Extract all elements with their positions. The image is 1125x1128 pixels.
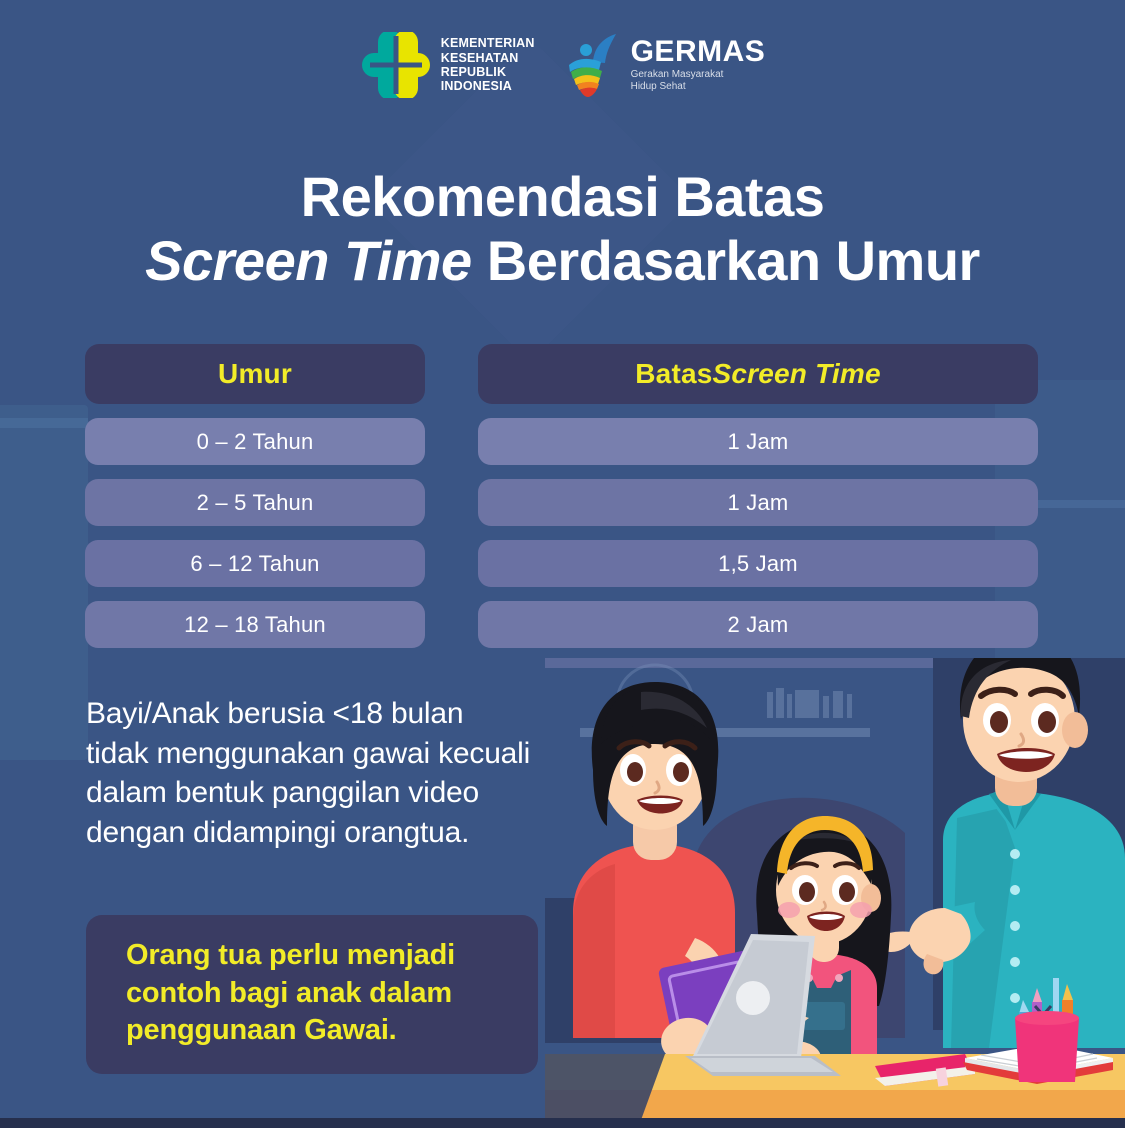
logo-bar: KEMENTERIAN KESEHATAN REPUBLIK INDONESIA — [0, 32, 1125, 98]
cell-limit-3: 2 Jam — [478, 601, 1038, 648]
table-row: 2 – 5 Tahun 1 Jam — [85, 479, 1043, 526]
cell-age-3: 12 – 18 Tahun — [85, 601, 425, 648]
infographic-poster: KEMENTERIAN KESEHATAN REPUBLIK INDONESIA — [0, 0, 1125, 1128]
column-header-limit-prefix: Batas — [635, 358, 712, 390]
kemenkes-line-2: KESEHATAN — [441, 51, 535, 65]
background-panel-left — [0, 405, 88, 760]
germas-tagline: Gerakan Masyarakat Hidup Sehat — [631, 69, 766, 94]
background-panel-left-line — [0, 418, 88, 428]
table-row: 12 – 18 Tahun 2 Jam — [85, 601, 1043, 648]
page-title: Rekomendasi Batas Screen Time Berdasarka… — [0, 165, 1125, 293]
germas-tagline-line-2: Hidup Sehat — [631, 81, 766, 94]
kemenkes-logo-text: KEMENTERIAN KESEHATAN REPUBLIK INDONESIA — [441, 36, 535, 94]
bottom-strip — [0, 1118, 1125, 1128]
column-header-limit: Batas Screen Time — [478, 344, 1038, 404]
cell-limit-1: 1 Jam — [478, 479, 1038, 526]
title-line-2: Screen Time Berdasarkan Umur — [0, 229, 1125, 293]
table-header-row: Umur Batas Screen Time — [85, 344, 1043, 404]
callout-box: Orang tua perlu menjadi contoh bagi anak… — [86, 915, 538, 1074]
table-row: 0 – 2 Tahun 1 Jam — [85, 418, 1043, 465]
title-line-1: Rekomendasi Batas — [0, 165, 1125, 229]
cell-age-2: 6 – 12 Tahun — [85, 540, 425, 587]
cell-limit-0: 1 Jam — [478, 418, 1038, 465]
column-header-limit-italic: Screen Time — [713, 358, 881, 390]
kemenkes-logo: KEMENTERIAN KESEHATAN REPUBLIK INDONESIA — [360, 32, 535, 98]
family-with-laptop-illustration — [545, 658, 1125, 1128]
germas-logo-text: GERMAS Gerakan Masyarakat Hidup Sehat — [631, 37, 766, 94]
column-header-age: Umur — [85, 344, 425, 404]
title-line-2-italic: Screen Time — [145, 229, 472, 292]
title-line-2-rest: Berdasarkan Umur — [472, 229, 980, 292]
table-row: 6 – 12 Tahun 1,5 Jam — [85, 540, 1043, 587]
germas-figure-icon — [561, 32, 623, 98]
cell-age-0: 0 – 2 Tahun — [85, 418, 425, 465]
germas-wordmark: GERMAS — [631, 37, 766, 67]
kemenkes-line-4: INDONESIA — [441, 79, 535, 93]
family-illustration-svg — [545, 658, 1125, 1128]
note-paragraph: Bayi/Anak berusia <18 bulan tidak menggu… — [86, 694, 531, 852]
germas-logo: GERMAS Gerakan Masyarakat Hidup Sehat — [561, 32, 766, 98]
cell-limit-2: 1,5 Jam — [478, 540, 1038, 587]
germas-tagline-line-1: Gerakan Masyarakat — [631, 69, 766, 82]
kemenkes-line-1: KEMENTERIAN — [441, 36, 535, 50]
screen-time-table: Umur Batas Screen Time 0 – 2 Tahun 1 Jam… — [85, 344, 1043, 648]
cell-age-1: 2 – 5 Tahun — [85, 479, 425, 526]
kemenkes-line-3: REPUBLIK — [441, 65, 535, 79]
kemenkes-flower-icon — [360, 32, 432, 98]
